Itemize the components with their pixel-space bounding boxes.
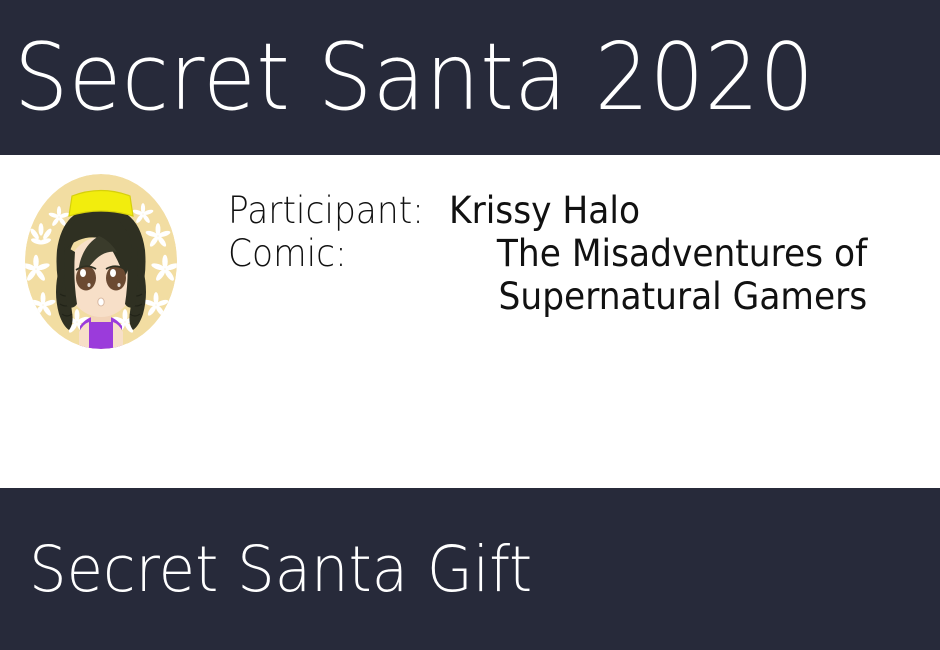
- participant-value: Krissy Halo: [449, 190, 640, 231]
- footer-title: Secret Santa Gift: [29, 538, 532, 601]
- comic-label: Comic:: [228, 233, 355, 274]
- participant-row: Participant:Krissy Halo: [228, 190, 908, 231]
- header-banner: Secret Santa 2020: [0, 0, 940, 155]
- participant-card: Participant:Krissy Halo Comic: The Misad…: [0, 155, 940, 488]
- comic-value: The Misadventures of Supernatural Gamers: [365, 233, 867, 317]
- secret-santa-card: Secret Santa 2020: [0, 0, 940, 650]
- footer-banner: Secret Santa Gift: [0, 488, 940, 650]
- avatar: [25, 174, 177, 349]
- comic-row: Comic: The Misadventures of Supernatural…: [228, 233, 908, 317]
- participant-label: Participant:: [228, 190, 424, 231]
- participant-info: Participant:Krissy Halo Comic: The Misad…: [228, 190, 908, 318]
- avatar-illustration-icon: [25, 174, 177, 349]
- avatar-clip: [25, 174, 177, 349]
- page-title: Secret Santa 2020: [14, 31, 814, 124]
